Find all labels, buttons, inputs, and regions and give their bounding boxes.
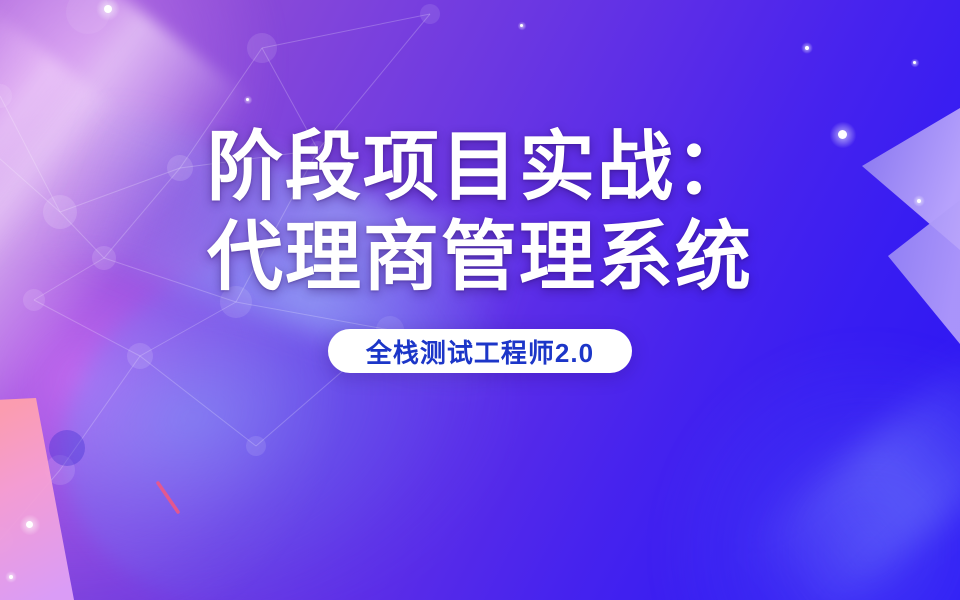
course-badge[interactable]: 全栈测试工程师2.0 — [328, 329, 632, 373]
page-title: 阶段项目实战： 代理商管理系统 — [207, 122, 753, 301]
course-banner: 阶段项目实战： 代理商管理系统 全栈测试工程师2.0 — [0, 0, 960, 600]
banner-content: 阶段项目实战： 代理商管理系统 全栈测试工程师2.0 — [0, 0, 960, 600]
title-line-1: 阶段项目实战： — [207, 122, 753, 212]
title-line-2: 代理商管理系统 — [207, 212, 753, 302]
course-badge-label: 全栈测试工程师2.0 — [366, 333, 594, 370]
